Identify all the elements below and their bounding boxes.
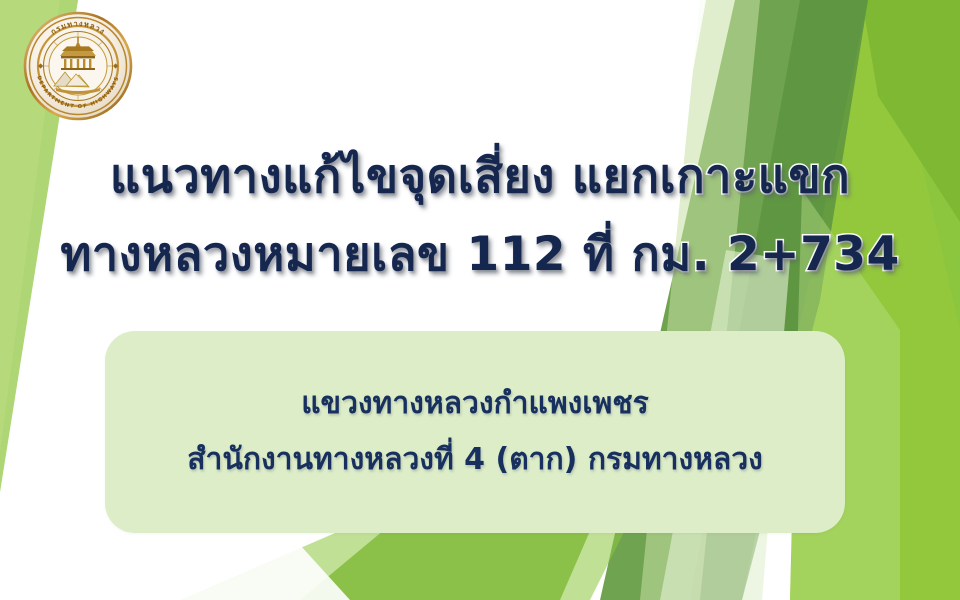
title-line-2: ทางหลวงหมายเลข 112 ที่ กม. 2+734 [40,216,920,294]
department-of-highways-seal-icon: กรมทางหลวง DEPARTMENT OF HIGHWAYS [22,10,134,122]
title-slide: กรมทางหลวง DEPARTMENT OF HIGHWAYS แนวทาง… [0,0,960,600]
organization-info-card: แขวงทางหลวงกำแพงเพชร สำนักงานทางหลวงที่ … [105,331,845,533]
organization-parent: สำนักงานทางหลวงที่ 4 (ตาก) กรมทางหลวง [187,432,763,488]
title-block: แนวทางแก้ไขจุดเสี่ยง แยกเกาะแขก ทางหลวงห… [40,138,920,294]
organization-name: แขวงทางหลวงกำแพงเพชร [301,376,649,432]
bottom-white-notch [120,545,350,600]
title-line-1: แนวทางแก้ไขจุดเสี่ยง แยกเกาะแขก [40,138,920,216]
